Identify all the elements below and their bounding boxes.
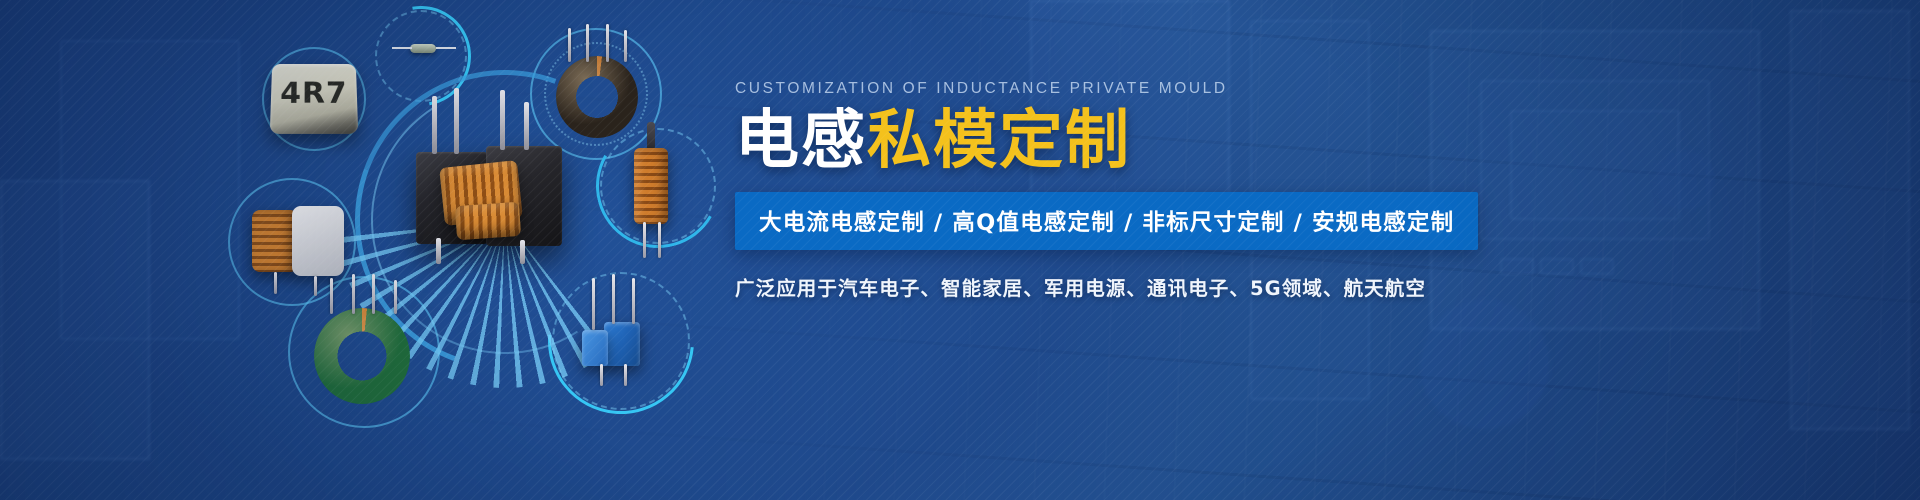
banner-text-block: CUSTOMIZATION OF INDUCTANCE PRIVATE MOUL… bbox=[735, 80, 1855, 301]
english-tagline: CUSTOMIZATION OF INDUCTANCE PRIVATE MOUL… bbox=[735, 80, 1855, 98]
toroid-core-green bbox=[314, 308, 410, 404]
product-blue-radial-component bbox=[578, 296, 658, 386]
product-axial-inductor-small bbox=[392, 36, 454, 60]
product-emi-filter-block bbox=[408, 112, 578, 272]
promo-banner: 4R7 bbox=[0, 0, 1920, 500]
application-subline: 广泛应用于汽车电子、智能家居、军用电源、通讯电子、5G领域、航天航空 bbox=[735, 272, 1855, 301]
product-rod-core-inductor bbox=[634, 148, 668, 224]
feature-bar-text: 大电流电感定制 / 高Q值电感定制 / 非标尺寸定制 / 安规电感定制 bbox=[759, 210, 1454, 236]
product-label-4r7: 4R7 bbox=[280, 77, 349, 111]
feature-bar: 大电流电感定制 / 高Q值电感定制 / 非标尺寸定制 / 安规电感定制 bbox=[735, 192, 1478, 250]
product-toroid-choke-bottom bbox=[314, 308, 410, 404]
bobbin-winding bbox=[634, 148, 668, 224]
product-smd-power-inductor: 4R7 bbox=[271, 62, 357, 134]
headline-white-part: 电感 bbox=[735, 104, 867, 178]
page-title: 电感私模定制 bbox=[735, 108, 1855, 176]
smd-chip-body: 4R7 bbox=[270, 64, 358, 134]
headline-yellow-part: 私模定制 bbox=[867, 104, 1131, 178]
